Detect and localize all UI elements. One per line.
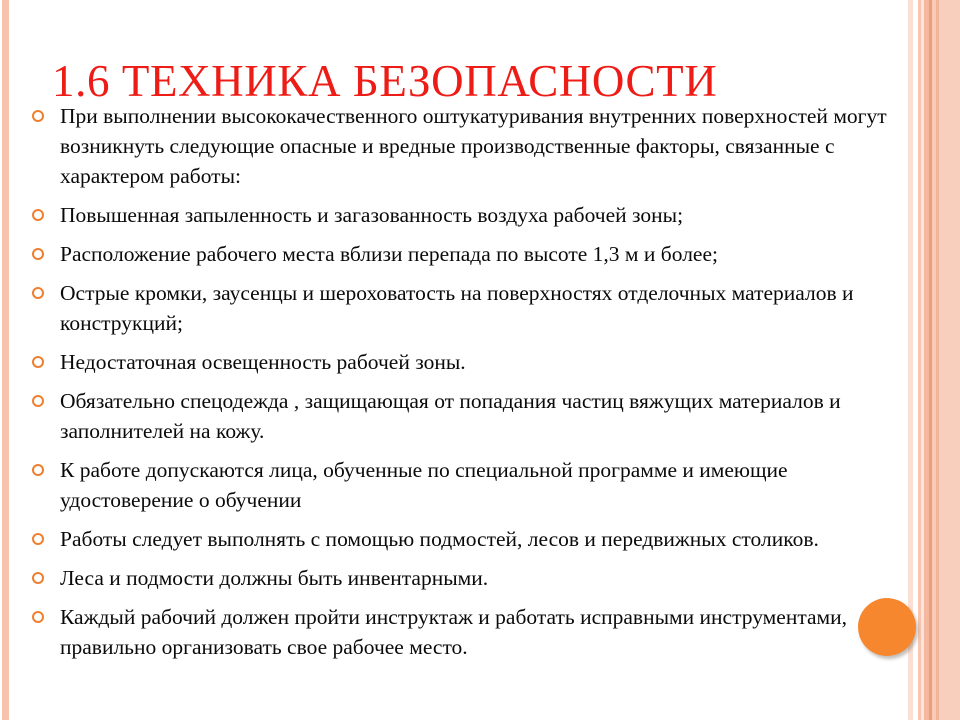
- ring-bullet-icon: [32, 110, 44, 122]
- list-item-text: Недостаточная освещенность рабочей зоны.: [60, 347, 890, 377]
- list-item-text: Леса и подмости должны быть инвентарными…: [60, 563, 890, 593]
- list-item: Леса и подмости должны быть инвентарными…: [30, 563, 890, 593]
- slide-canvas: 1.6 ТЕХНИКА БЕЗОПАСНОСТИ При выполнении …: [0, 0, 960, 720]
- list-item-text: При выполнении высококачественного оштук…: [60, 101, 890, 191]
- ring-bullet-icon: [32, 572, 44, 584]
- bullet-list: При выполнении высококачественного оштук…: [30, 101, 890, 662]
- list-item-text: Каждый рабочий должен пройти инструктаж …: [60, 602, 890, 662]
- list-item-text: Работы следует выполнять с помощью подмо…: [60, 524, 890, 554]
- list-item: Недостаточная освещенность рабочей зоны.: [30, 347, 890, 377]
- ring-bullet-icon: [32, 611, 44, 623]
- ring-bullet-icon: [32, 209, 44, 221]
- list-item-text: Острые кромки, заусенцы и шероховатость …: [60, 278, 890, 338]
- ring-bullet-icon: [32, 395, 44, 407]
- list-item: Повышенная запыленность и загазованность…: [30, 200, 890, 230]
- left-border-stripe: [2, 0, 9, 720]
- list-item: Расположение рабочего места вблизи переп…: [30, 239, 890, 269]
- ring-bullet-icon: [32, 533, 44, 545]
- list-item-text: Расположение рабочего места вблизи переп…: [60, 239, 890, 269]
- list-item-text: К работе допускаются лица, обученные по …: [60, 455, 890, 515]
- list-item: К работе допускаются лица, обученные по …: [30, 455, 890, 515]
- list-item: Острые кромки, заусенцы и шероховатость …: [30, 278, 890, 338]
- list-item-text: Повышенная запыленность и загазованность…: [60, 200, 890, 230]
- right-border-stripe-7: [939, 0, 960, 720]
- ring-bullet-icon: [32, 356, 44, 368]
- decorative-orange-circle: [858, 598, 916, 656]
- list-item-text: Обязательно спецодежда , защищающая от п…: [60, 386, 890, 446]
- list-item: Обязательно спецодежда , защищающая от п…: [30, 386, 890, 446]
- ring-bullet-icon: [32, 248, 44, 260]
- right-border-stripe-group: [918, 0, 960, 720]
- ring-bullet-icon: [32, 464, 44, 476]
- ring-bullet-icon: [32, 287, 44, 299]
- list-item: При выполнении высококачественного оштук…: [30, 101, 890, 191]
- list-item: Каждый рабочий должен пройти инструктаж …: [30, 602, 890, 662]
- list-item: Работы следует выполнять с помощью подмо…: [30, 524, 890, 554]
